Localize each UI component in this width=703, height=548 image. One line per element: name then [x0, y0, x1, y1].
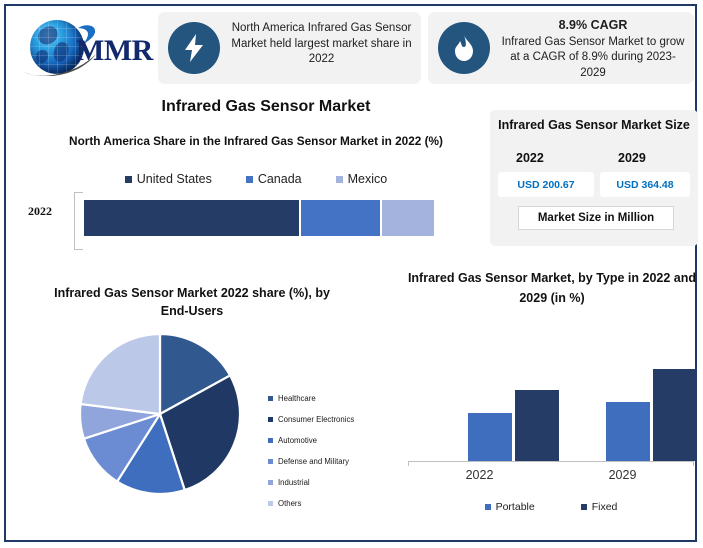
na-chart-plot [74, 192, 434, 252]
pie-chart-title: Infrared Gas Sensor Market 2022 share (%… [52, 284, 332, 320]
legend-label: Industrial [278, 478, 310, 487]
legend-label: Mexico [348, 172, 388, 186]
callout-2-text: 8.9% CAGR Infrared Gas Sensor Market to … [498, 18, 688, 81]
type-bar [606, 402, 650, 461]
legend-item-canada: Canada [246, 172, 302, 186]
type-chart-x-labels: 20222029 [408, 468, 694, 482]
legend-item-mexico: Mexico [336, 172, 388, 186]
legend-swatch [268, 438, 273, 443]
type-bar-group [606, 336, 697, 461]
legend-swatch [336, 176, 343, 183]
market-size-unit: Market Size in Million [518, 206, 674, 230]
legend-label: Healthcare [278, 394, 316, 403]
type-chart-axis [408, 461, 694, 466]
legend-item-fixed: Fixed [581, 501, 618, 513]
legend-swatch [485, 504, 491, 510]
pie-legend-item: Healthcare [268, 388, 398, 409]
legend-swatch [268, 459, 273, 464]
lightning-bolt-icon [168, 22, 220, 74]
callout-market-share: North America Infrared Gas Sensor Market… [158, 12, 421, 84]
legend-swatch [125, 176, 132, 183]
legend-label: United States [137, 172, 212, 186]
type-chart-plot [408, 336, 694, 466]
end-user-pie-chart [79, 333, 241, 495]
legend-label: Consumer Electronics [278, 415, 354, 424]
na-axis [74, 192, 83, 250]
na-bar-segment [382, 200, 434, 236]
pie-legend-item: Automotive [268, 430, 398, 451]
market-size-value-2029: USD 364.48 [600, 172, 690, 197]
legend-label: Portable [496, 501, 535, 513]
pie-slice [81, 334, 160, 414]
flame-icon [438, 22, 490, 74]
na-category-label: 2022 [28, 204, 52, 219]
legend-swatch [268, 396, 273, 401]
market-size-title: Infrared Gas Sensor Market Size [498, 117, 690, 133]
mmr-logo: MMR [16, 10, 156, 84]
callout-cagr: 8.9% CAGR Infrared Gas Sensor Market to … [428, 12, 694, 84]
callout-1-text: North America Infrared Gas Sensor Market… [228, 21, 415, 68]
pie-legend-item: Others [268, 493, 398, 514]
pie-legend-item: Industrial [268, 472, 398, 493]
market-size-panel: Infrared Gas Sensor Market Size 2022 202… [490, 110, 698, 246]
infographic-frame: MMR North America Infrared Gas Sensor Ma… [4, 4, 697, 542]
cagr-headline: 8.9% CAGR [498, 18, 688, 34]
type-x-label: 2029 [551, 468, 694, 482]
na-bar-segment [84, 200, 301, 236]
market-size-value-2022: USD 200.67 [498, 172, 594, 197]
market-size-year-2029: 2029 [618, 151, 646, 165]
na-bar-segment [301, 200, 383, 236]
market-size-year-2022: 2022 [516, 151, 544, 165]
legend-label: Fixed [592, 501, 618, 513]
type-bar [653, 369, 697, 461]
legend-swatch [268, 417, 273, 422]
pie-chart-legend: HealthcareConsumer ElectronicsAutomotive… [268, 388, 398, 514]
type-chart-legend: Portable Fixed [408, 501, 694, 513]
type-x-label: 2022 [408, 468, 551, 482]
legend-item-united-states: United States [125, 172, 212, 186]
pie-legend-item: Consumer Electronics [268, 409, 398, 430]
pie-legend-item: Defense and Military [268, 451, 398, 472]
cagr-description: Infrared Gas Sensor Market to grow at a … [502, 36, 685, 79]
type-chart-title: Infrared Gas Sensor Market, by Type in 2… [402, 268, 702, 308]
legend-item-portable: Portable [485, 501, 535, 513]
na-chart-legend: United States Canada Mexico [46, 170, 466, 188]
type-bar [515, 390, 559, 461]
brand-name: MMR [76, 34, 153, 68]
legend-label: Others [278, 499, 301, 508]
legend-label: Automotive [278, 436, 317, 445]
legend-label: Defense and Military [278, 457, 349, 466]
type-bar-group [468, 336, 559, 461]
na-stacked-bar [84, 200, 434, 236]
type-bar [468, 413, 512, 461]
page-title: Infrared Gas Sensor Market [66, 98, 466, 116]
legend-swatch [268, 480, 273, 485]
legend-label: Canada [258, 172, 302, 186]
legend-swatch [246, 176, 253, 183]
legend-swatch [581, 504, 587, 510]
na-chart-title: North America Share in the Infrared Gas … [46, 134, 466, 149]
legend-swatch [268, 501, 273, 506]
